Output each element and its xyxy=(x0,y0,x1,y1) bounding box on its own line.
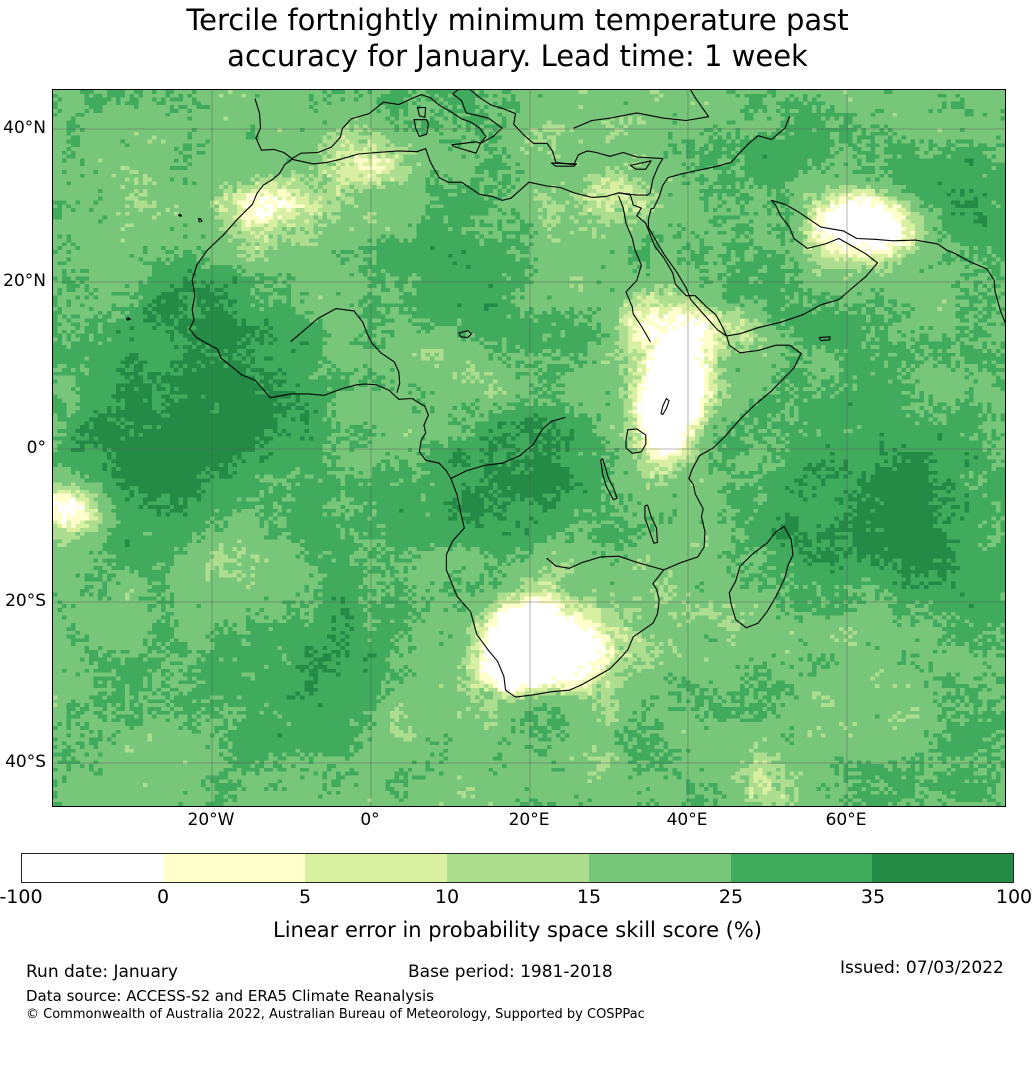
x-tick-label: 40°E xyxy=(667,810,708,830)
x-tick-label: 0° xyxy=(360,810,379,830)
y-tick-label: 20°N xyxy=(0,271,46,291)
x-tick-label: 60°E xyxy=(826,810,867,830)
colorbar-band xyxy=(164,854,306,882)
colorbar xyxy=(21,853,1014,883)
colorbar-band xyxy=(872,854,1013,882)
colorbar-tick-label: 15 xyxy=(577,886,601,908)
colorbar-tick-label: 10 xyxy=(435,886,459,908)
y-tick-label: 40°N xyxy=(0,118,46,138)
y-tick-label: 20°S xyxy=(0,591,46,611)
colorbar-band xyxy=(22,854,164,882)
colorbar-band xyxy=(731,854,873,882)
colorbar-band xyxy=(589,854,731,882)
footer-copyright: © Commonwealth of Australia 2022, Austra… xyxy=(26,1007,645,1022)
colorbar-tick-label: -100 xyxy=(0,886,43,908)
map-plot-area xyxy=(52,89,1006,807)
coastline-overlay xyxy=(53,90,1005,806)
colorbar-tick-label: 0 xyxy=(157,886,169,908)
footer-data-source: Data source: ACCESS-S2 and ERA5 Climate … xyxy=(26,987,434,1005)
colorbar-tick-label: 5 xyxy=(299,886,311,908)
colorbar-band xyxy=(447,854,589,882)
y-tick-label: 40°S xyxy=(0,752,46,772)
footer-issued: Issued: 07/03/2022 xyxy=(840,958,1004,978)
page-title: Tercile fortnightly minimum temperature … xyxy=(0,2,1035,74)
x-tick-label: 20°E xyxy=(509,810,550,830)
y-tick-label: 0° xyxy=(0,438,46,458)
footer-base-period: Base period: 1981-2018 xyxy=(408,962,613,982)
colorbar-tick-label: 35 xyxy=(861,886,885,908)
colorbar-caption: Linear error in probability space skill … xyxy=(0,918,1035,942)
footer-run-date: Run date: January xyxy=(26,962,178,982)
colorbar-band xyxy=(305,854,447,882)
x-tick-label: 20°W xyxy=(188,810,235,830)
colorbar-tick-label: 100 xyxy=(996,886,1032,908)
colorbar-tick-label: 25 xyxy=(719,886,743,908)
